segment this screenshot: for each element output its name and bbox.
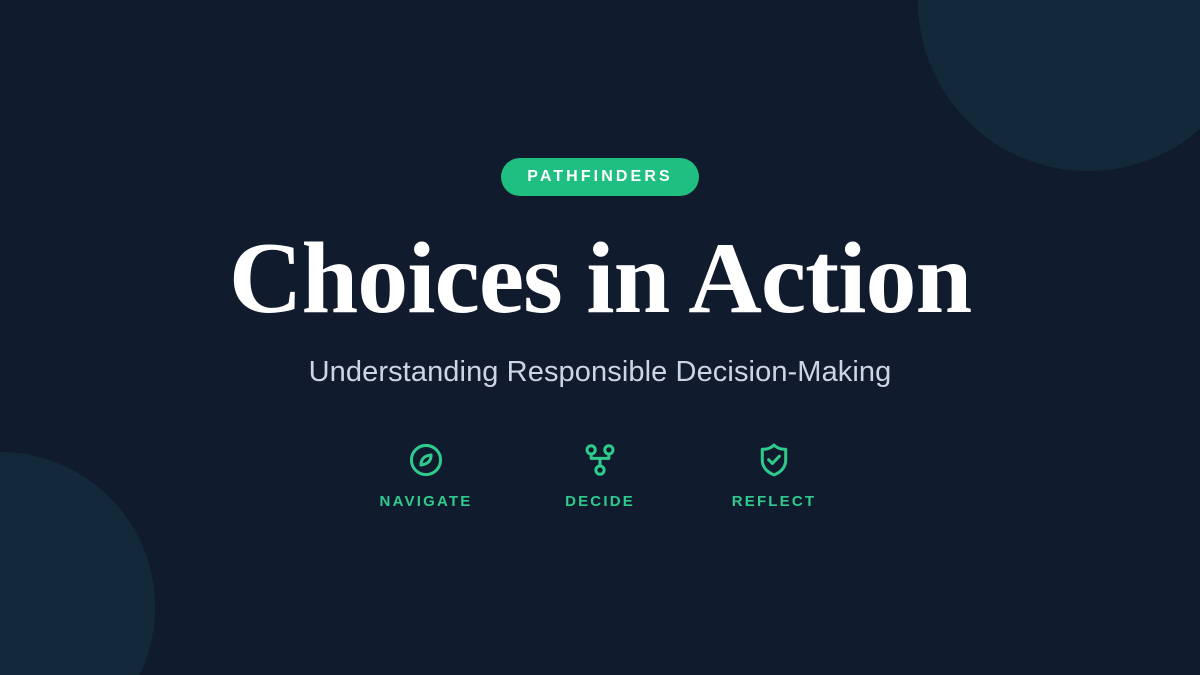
eyebrow-badge-label: PATHFINDERS	[527, 169, 673, 185]
page-title: Choices in Action	[229, 228, 971, 330]
title-slide: PATHFINDERS Choices in Action Understand…	[0, 0, 1200, 675]
pillar-navigate: NAVIGATE	[363, 441, 489, 510]
pillar-row: NAVIGATE DECIDE REFLECT	[363, 441, 837, 510]
pillar-reflect: REFLECT	[711, 441, 837, 510]
compass-icon	[407, 441, 445, 479]
eyebrow-badge: PATHFINDERS	[501, 158, 699, 196]
pillar-navigate-label: NAVIGATE	[380, 493, 473, 510]
shield-check-icon	[755, 441, 793, 479]
pillar-decide: DECIDE	[537, 441, 663, 510]
pillar-reflect-label: REFLECT	[732, 493, 817, 510]
pillar-decide-label: DECIDE	[565, 493, 635, 510]
page-subtitle: Understanding Responsible Decision-Makin…	[309, 356, 892, 389]
git-fork-icon	[581, 441, 619, 479]
